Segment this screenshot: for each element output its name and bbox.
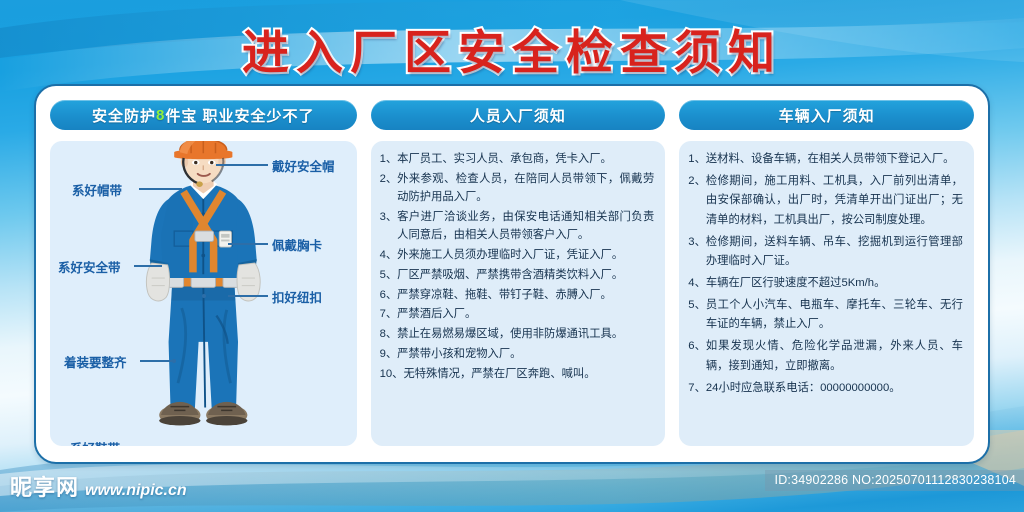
panel-personnel-entry-body: 1、本厂员工、实习人员、承包商，凭卡入厂。2、外来参观、检查人员，在陪同人员带领… — [371, 141, 666, 446]
callout-shoelace: 系好鞋带 — [70, 438, 120, 446]
worker-illustration-area: 戴好安全帽 系好帽带 佩戴胸卡 系好安全带 扣好纽扣 — [50, 141, 357, 446]
callout-harness: 系好安全带 — [58, 257, 121, 276]
site-watermark: 昵享网 www.nipic.cn — [10, 470, 187, 502]
rule-text: 外来施工人员须办理临时入厂证，凭证入厂。 — [397, 246, 654, 264]
content-card: 安全防护8件宝 职业安全少不了 — [34, 84, 990, 464]
rule-text: 送材料、设备车辆，在相关人员带领下登记入厂。 — [706, 150, 963, 169]
rule-item: 9、严禁带小孩和宠物入厂。 — [380, 345, 655, 363]
callout-chinstrap: 系好帽带 — [72, 180, 122, 199]
leader-line-uniform — [140, 360, 172, 362]
poster-root: 进入厂区安全检查须知 安全防护8件宝 职业安全少不了 — [0, 0, 1024, 512]
rule-item: 6、严禁穿凉鞋、拖鞋、带钉子鞋、赤膊入厂。 — [380, 286, 655, 304]
rule-text: 厂区严禁吸烟、严禁携带含酒精类饮料入厂。 — [397, 266, 654, 284]
rule-item: 1、送材料、设备车辆，在相关人员带领下登记入厂。 — [688, 150, 963, 169]
marker-dot-uniform — [172, 359, 176, 363]
rule-number: 1、 — [380, 150, 398, 168]
panel-personnel-entry-header: 人员入厂须知 — [371, 100, 666, 130]
watermark-brand: 昵享网 — [10, 470, 79, 502]
vehicle-rules-list: 1、送材料、设备车辆，在相关人员带领下登记入厂。2、检修期间，施工用料、工机具，… — [688, 150, 963, 398]
rule-number: 4、 — [380, 246, 398, 264]
rule-text: 车辆在厂区行驶速度不超过5Km/h。 — [706, 274, 963, 293]
rule-item: 6、如果发现火情、危险化学品泄漏，外来人员、车辆，接到通知，立即撤离。 — [688, 337, 963, 376]
rule-text: 严禁酒后入厂。 — [397, 305, 654, 323]
panel-safety-gear-header: 安全防护8件宝 职业安全少不了 — [50, 100, 357, 130]
panel-safety-gear-body: 戴好安全帽 系好帽带 佩戴胸卡 系好安全带 扣好纽扣 — [50, 141, 357, 446]
rule-number: 3、 — [688, 233, 706, 272]
rule-item: 4、外来施工人员须办理临时入厂证，凭证入厂。 — [380, 246, 655, 264]
rule-text: 24小时应急联系电话：00000000000。 — [706, 379, 963, 398]
rule-item: 10、无特殊情况，严禁在厂区奔跑、喊叫。 — [380, 365, 655, 383]
rule-number: 10、 — [380, 365, 404, 383]
leader-line-helmet — [216, 164, 268, 166]
panel-vehicle-entry-body: 1、送材料、设备车辆，在相关人员带领下登记入厂。2、检修期间，施工用料、工机具，… — [679, 141, 974, 446]
rule-number: 6、 — [380, 286, 398, 304]
rule-item: 3、检修期间，送料车辆、吊车、挖掘机到运行管理部办理临时入厂证。 — [688, 233, 963, 272]
rule-text: 无特殊情况，严禁在厂区奔跑、喊叫。 — [403, 365, 654, 383]
callout-buttons: 扣好纽扣 — [272, 287, 322, 306]
rule-item: 2、外来参观、检查人员，在陪同人员带领下，佩戴劳动防护用品入厂。 — [380, 170, 655, 207]
rule-item: 5、厂区严禁吸烟、严禁携带含酒精类饮料入厂。 — [380, 266, 655, 284]
rule-number: 1、 — [688, 150, 706, 169]
rule-number: 9、 — [380, 345, 398, 363]
rule-number: 6、 — [688, 337, 706, 376]
header-text-part2: 件宝 职业安全少不了 — [165, 105, 314, 126]
rule-text: 禁止在易燃易爆区域，使用非防爆通讯工具。 — [397, 325, 654, 343]
rule-text: 客户进厂洽谈业务，由保安电话通知相关部门负责人同意后，由相关人员带领客户入厂。 — [397, 208, 654, 245]
rule-number: 3、 — [380, 208, 398, 245]
leader-line-badge — [228, 243, 268, 245]
callout-uniform: 着装要整齐 — [64, 352, 127, 371]
watermark-url: www.nipic.cn — [85, 482, 187, 500]
panel-vehicle-entry-header: 车辆入厂须知 — [679, 100, 974, 130]
rule-text: 如果发现火情、危险化学品泄漏，外来人员、车辆，接到通知，立即撤离。 — [706, 337, 963, 376]
rule-number: 4、 — [688, 274, 706, 293]
rule-text: 检修期间，施工用料、工机具，入厂前列出清单，由安保部确认，出厂时，凭清单开出门证… — [706, 172, 963, 230]
header-highlight-number: 8 — [156, 107, 165, 124]
rule-number: 2、 — [688, 172, 706, 230]
rule-number: 2、 — [380, 170, 398, 207]
panel-personnel-entry: 人员入厂须知 1、本厂员工、实习人员、承包商，凭卡入厂。2、外来参观、检查人员，… — [371, 100, 666, 446]
rule-text: 本厂员工、实习人员、承包商，凭卡入厂。 — [397, 150, 654, 168]
personnel-rules-list: 1、本厂员工、实习人员、承包商，凭卡入厂。2、外来参观、检查人员，在陪同人员带领… — [380, 150, 655, 383]
rule-item: 1、本厂员工、实习人员、承包商，凭卡入厂。 — [380, 150, 655, 168]
rule-number: 7、 — [688, 379, 706, 398]
rule-item: 7、24小时应急联系电话：00000000000。 — [688, 379, 963, 398]
page-title: 进入厂区安全检查须知 — [242, 14, 782, 83]
rule-text: 员工个人小汽车、电瓶车、摩托车、三轮车、无行车证的车辆，禁止入厂。 — [706, 296, 963, 335]
panel-vehicle-entry: 车辆入厂须知 1、送材料、设备车辆，在相关人员带领下登记入厂。2、检修期间，施工… — [679, 100, 974, 446]
leader-line-buttons — [228, 295, 268, 297]
rule-item: 2、检修期间，施工用料、工机具，入厂前列出清单，由安保部确认，出厂时，凭清单开出… — [688, 172, 963, 230]
marker-dot-buttons — [202, 294, 206, 298]
rule-number: 8、 — [380, 325, 398, 343]
asset-id-label: ID:34902286 NO:20250701112830238104 — [765, 470, 1024, 491]
panels-container: 安全防护8件宝 职业安全少不了 — [36, 86, 988, 462]
rule-item: 4、车辆在厂区行驶速度不超过5Km/h。 — [688, 274, 963, 293]
callout-badge: 佩戴胸卡 — [272, 235, 322, 254]
callout-helmet: 戴好安全帽 — [272, 156, 335, 175]
header-text-part1: 安全防护 — [92, 105, 156, 126]
rule-item: 5、员工个人小汽车、电瓶车、摩托车、三轮车、无行车证的车辆，禁止入厂。 — [688, 296, 963, 335]
rule-number: 5、 — [688, 296, 706, 335]
leader-line-chinstrap — [139, 188, 182, 190]
rule-text: 严禁穿凉鞋、拖鞋、带钉子鞋、赤膊入厂。 — [397, 286, 654, 304]
rule-item: 3、客户进厂洽谈业务，由保安电话通知相关部门负责人同意后，由相关人员带领客户入厂… — [380, 208, 655, 245]
rule-text: 严禁带小孩和宠物入厂。 — [397, 345, 654, 363]
rule-item: 8、禁止在易燃易爆区域，使用非防爆通讯工具。 — [380, 325, 655, 343]
panel-safety-gear: 安全防护8件宝 职业安全少不了 — [50, 100, 357, 446]
poster-title-wrap: 进入厂区安全检查须知 — [0, 14, 1024, 83]
rule-item: 7、严禁酒后入厂。 — [380, 305, 655, 323]
rule-number: 5、 — [380, 266, 398, 284]
leader-line-harness — [134, 265, 162, 267]
rule-text: 外来参观、检查人员，在陪同人员带领下，佩戴劳动防护用品入厂。 — [397, 170, 654, 207]
rule-text: 检修期间，送料车辆、吊车、挖掘机到运行管理部办理临时入厂证。 — [706, 233, 963, 272]
callout-boots: 穿好劳保鞋 — [259, 443, 322, 446]
rule-number: 7、 — [380, 305, 398, 323]
